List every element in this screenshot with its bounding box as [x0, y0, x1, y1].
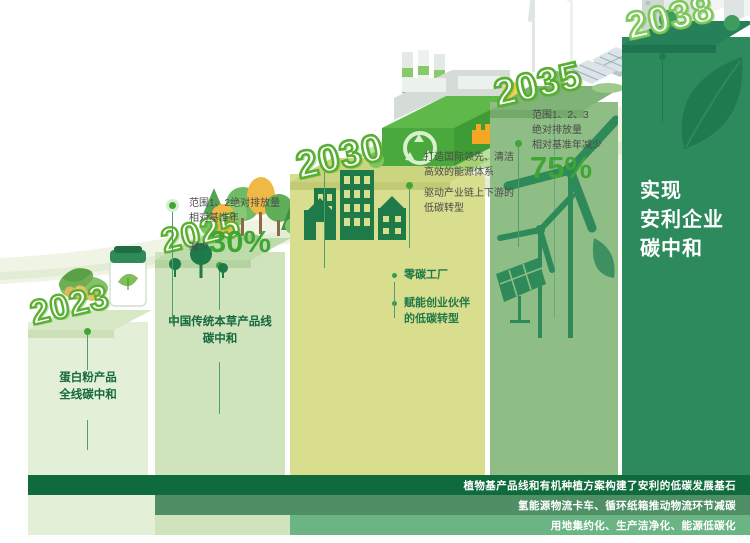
bottom-bar-3: 用地集约化、生产洁净化、能源低碳化 [290, 515, 750, 535]
leaf-icon [648, 53, 750, 193]
callout-energy-line3: 驱动产业链上下游的 [424, 186, 514, 202]
callout-energy-stem [324, 172, 325, 268]
callout-75-value: 75% [530, 152, 592, 183]
caption-2023: 蛋白粉产品 全线碳中和 [20, 370, 156, 405]
bullet-list-2030: 零碳工厂 赋能创业伙伴 的低碳转型 [392, 268, 488, 340]
stem-2023 [87, 332, 88, 370]
bottom-bar-1: 植物基产品线和有机种植方案构建了安利的低碳发展基石 [28, 475, 750, 495]
callout-75-line2: 绝对排放量 [532, 123, 582, 139]
callout-30-value: 30% [209, 226, 271, 257]
callout-energy-stem-2 [409, 188, 410, 248]
stem-dot-2038 [659, 53, 666, 60]
callout-30-prefix: 减少 [189, 238, 209, 257]
callout-30-line1: 范围1、2绝对排放量 [189, 196, 280, 212]
stem-2025-lower [219, 362, 220, 414]
bottom-bar-1-text: 植物基产品线和有机种植方案构建了安利的低碳发展基石 [464, 478, 750, 493]
bottom-bar-2: 氢能源物流卡车、循环纸箱推动物流环节减碳 [155, 495, 750, 515]
stem-dot-2023 [84, 328, 91, 335]
stem-2038 [662, 57, 663, 123]
callout-30-dot [166, 199, 179, 212]
bottom-bar-2-text: 氢能源物流卡车、循环纸箱推动物流环节减碳 [518, 498, 750, 513]
callout-75-dot [515, 140, 522, 147]
callout-75-stem [518, 147, 519, 247]
milestone-column-2025[interactable]: 2025 中国传统本草产品线 碳中和 [155, 238, 285, 478]
infographic-canvas: 2023 蛋白粉产品 全线碳中和 [0, 0, 750, 543]
headline-carbon-neutral: 实现 安利企业 碳中和 [640, 177, 750, 264]
column-body-2025 [155, 252, 285, 478]
callout-energy-line4: 低碳转型 [424, 201, 464, 217]
callout-energy-line2: 高效的能源体系 [424, 165, 494, 181]
bullet-item: 赋能创业伙伴 的低碳转型 [392, 296, 488, 328]
callout-75-line1: 范围1、2、3 [532, 108, 589, 124]
milestone-column-2023[interactable]: 2023 蛋白粉产品 全线碳中和 [28, 308, 148, 478]
bullet-item: 零碳工厂 [392, 268, 488, 284]
callout-30-stem [172, 212, 173, 324]
bottom-bar-3-text: 用地集约化、生产洁净化、能源低碳化 [551, 518, 750, 533]
bar-stub-2025 [155, 515, 290, 535]
stem-2023-lower [87, 420, 88, 450]
bar-stub-2023 [28, 495, 155, 535]
milestone-column-2038[interactable]: 2038 实现 安利企业 碳中和 [622, 23, 750, 478]
callout-energy-line1: 打造国际领先、清洁 [424, 150, 514, 166]
stem-2030 [394, 282, 395, 318]
caption-2025: 中国传统本草产品线 碳中和 [139, 314, 301, 349]
